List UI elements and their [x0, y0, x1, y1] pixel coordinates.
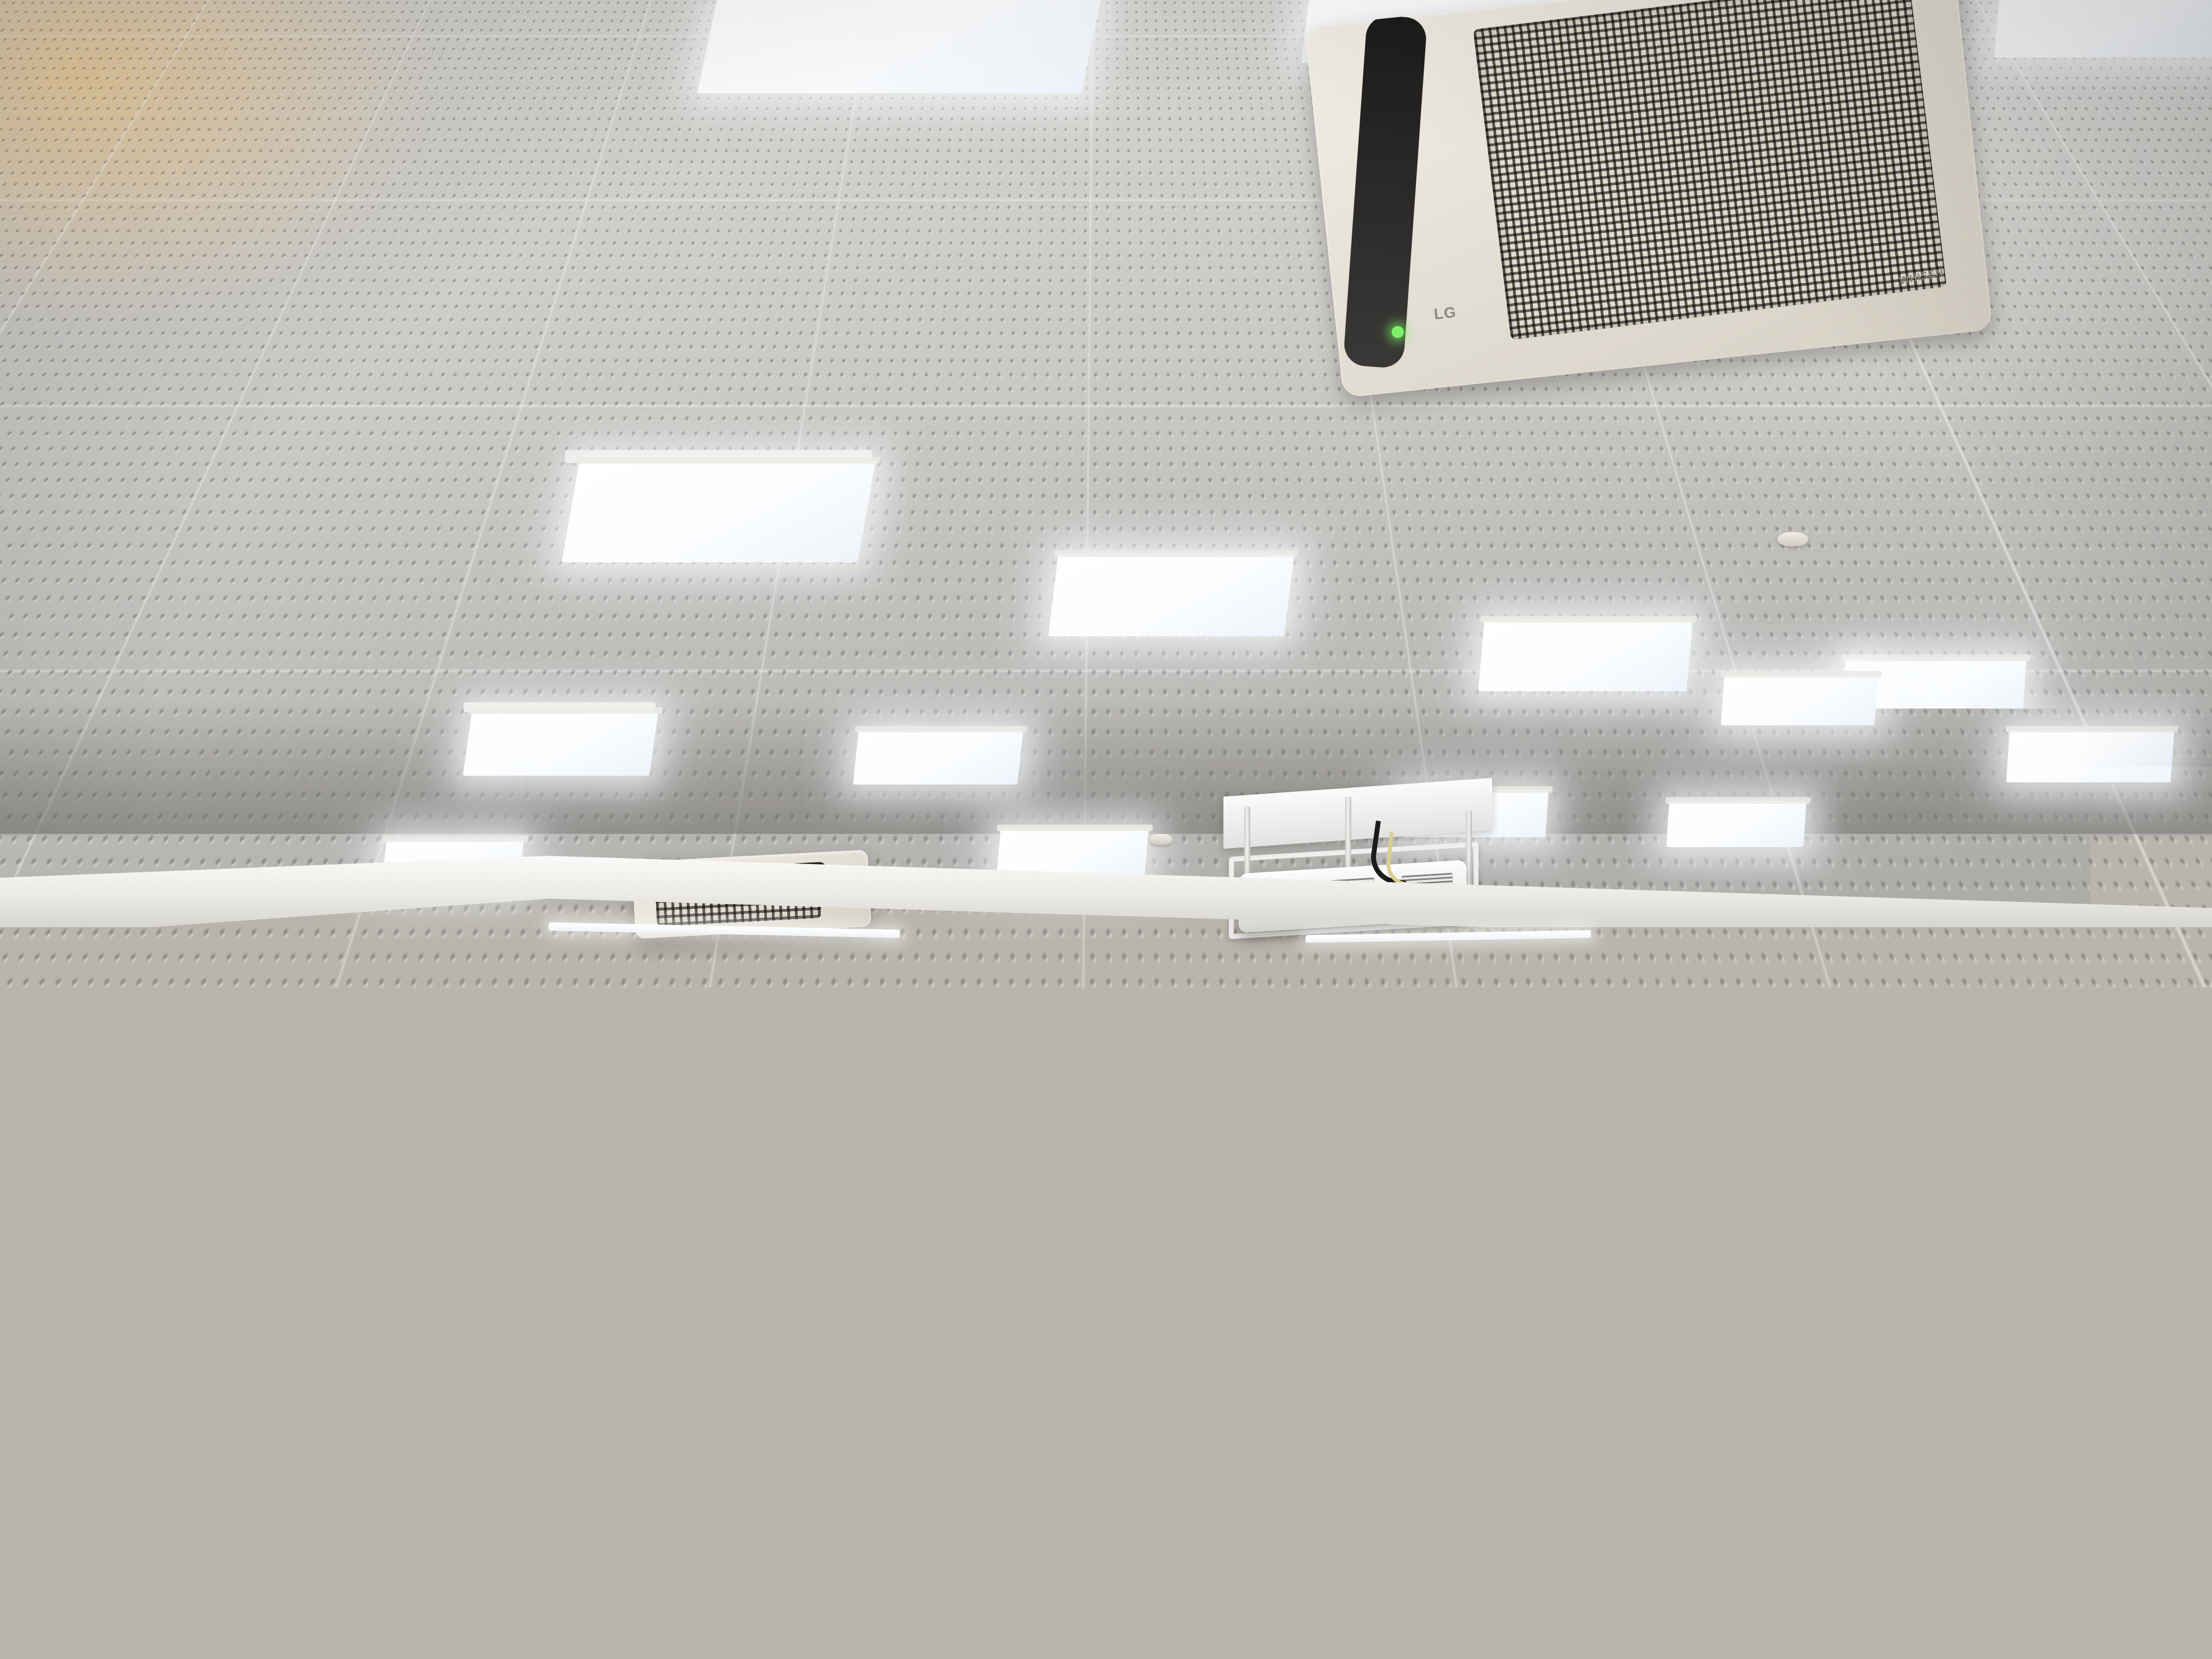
ceiling-shadow-band — [0, 702, 2212, 834]
slide-section-heading-text: 소모임 진행 목적 — [598, 1193, 722, 1215]
equipment-trolley — [5, 1415, 132, 1422]
smoke-detector-icon — [1778, 532, 1808, 546]
county-emblem-icon — [1154, 1218, 1177, 1247]
whiteboard-roster-column: 2024년 ~ 2025년 1월 회장 - 김길동 부회장 - 정만호 최영희 … — [1346, 1142, 1412, 1237]
whiteboard-roster-item: 사무국장 - 김길오 — [1347, 1201, 1411, 1214]
whiteboard-roster-item: 총 무 - 박귀덕 — [1347, 1213, 1411, 1226]
trigram-geon-icon — [163, 1192, 196, 1210]
slide-organization-badge: 곡성군 정보화농업인연구회 — [814, 1053, 982, 1088]
air-conditioner-cassette: LG WHISEN — [1305, 0, 1993, 398]
trigram-gon-icon — [159, 1295, 173, 1313]
ceiling-light-panel — [1666, 801, 1807, 847]
emblem-figure-icon — [1158, 1231, 1174, 1247]
attendee-head — [1834, 1322, 1886, 1377]
presenter-head — [1480, 1162, 1537, 1229]
whiteboard-roster-item: 고 문 - 한상길 — [1347, 1224, 1412, 1237]
attendee-torso — [1057, 1322, 1159, 1441]
chair[interactable] — [631, 1611, 806, 1659]
ac-grille — [1473, 0, 1947, 340]
trigram-gon-icon — [179, 1295, 193, 1313]
whiteboard-roster-item: 총무 1명 - 한정호 — [1347, 1177, 1411, 1190]
equipment-trolley-leg — [11, 1421, 17, 1520]
attendee-torso — [1226, 1302, 1312, 1407]
ceiling-light-panel — [697, 0, 1102, 93]
ceiling-light-panel — [1721, 675, 1878, 725]
desk — [1937, 1477, 2212, 1518]
flagpole-finial-icon — [169, 1116, 185, 1133]
whiteboard-agenda-item: 8) 2026년 총회 운영비 책정 승인 — [1254, 1218, 1345, 1231]
attendee-torso — [1669, 1367, 1782, 1499]
attendee — [1059, 1278, 1158, 1437]
ceiling-light-panel — [2006, 730, 2175, 782]
attendee — [1228, 1262, 1310, 1399]
attendee — [1579, 1267, 1660, 1404]
slide-section-heading: 소모임 진행 목적 — [578, 1188, 722, 1216]
attendee-head — [1438, 1317, 1506, 1387]
whiteboard-agenda-item: 4) 2024년 결산보고 — [1254, 1171, 1345, 1184]
ceiling: LG WHISEN — [0, 0, 2212, 988]
slide-bullet-dash-icon: - — [578, 1239, 584, 1256]
wall-mounted-display[interactable] — [2134, 930, 2212, 1116]
desk-leg — [494, 1606, 503, 1659]
whiteboard-agenda-item: 6) 기타 의견 및 토의사항 — [1254, 1195, 1345, 1207]
daylight-patch — [1919, 1039, 1946, 1062]
ceiling-light-panel — [1994, 0, 2212, 58]
desk-leg — [1986, 1514, 1995, 1635]
attendee — [1920, 1328, 2030, 1503]
whiteboard-agenda-item: 1) 국민의례 — [1253, 1133, 1344, 1149]
desk-leg — [384, 1549, 393, 1659]
ceiling-light-panel — [463, 711, 659, 776]
ceiling-light-panel — [1048, 554, 1294, 636]
projector-lift-arm — [1466, 811, 1472, 893]
attendee-torso — [1805, 1370, 1915, 1500]
attendee-torso — [1577, 1307, 1662, 1414]
chair[interactable] — [1289, 1578, 1465, 1659]
taegeuk-symbol-icon — [155, 1229, 202, 1276]
whiteboard-agenda-item: 2) 회장 인사 말씀 — [1253, 1148, 1344, 1160]
slide-title: 3) 농부작가 만들기 프로젝트 — [548, 1093, 922, 1146]
whiteboard-roster-item: 회장 - 김길동 — [1346, 1154, 1410, 1166]
desk-leg — [982, 1571, 991, 1659]
whiteboard-roster-item: 부회장 - 정만호 최영희 — [1347, 1166, 1411, 1178]
ceiling-light-panel — [853, 730, 1024, 785]
county-flag-label: 곡성군 — [1136, 1249, 1153, 1279]
whiteboard-agenda-column: 1) 국민의례 2) 회장 인사 말씀 3) 2024년 사업보고(안) 4) … — [1253, 1133, 1345, 1231]
attendee-head — [1949, 1328, 2001, 1383]
attendee — [1805, 1322, 1915, 1498]
blind-divider — [1953, 961, 1958, 1302]
attendee-head — [1084, 1278, 1132, 1329]
slide-heading-circle-icon — [578, 1197, 591, 1210]
attendee-torso — [1404, 1378, 1541, 1521]
attendee-head — [1699, 1317, 1752, 1374]
daylight-patch — [1984, 1134, 2203, 1289]
trolley-wheel-icon — [4, 1515, 25, 1536]
chair[interactable] — [1229, 1432, 1344, 1516]
attendee — [1668, 1317, 1783, 1498]
ceiling-light-panel — [1478, 620, 1692, 691]
desk-leg — [121, 1535, 129, 1659]
whiteboard-agenda-item: 7) 임원 선출 — [1254, 1207, 1345, 1220]
smoke-detector-icon — [1149, 834, 1172, 845]
meeting-room-photo: LG WHISEN — [0, 0, 2212, 1659]
whiteboard-roster-item: 홍보부장 - 김수호 — [1347, 1189, 1411, 1202]
chair[interactable] — [1679, 1562, 1843, 1659]
ac-brand-logo: LG — [1433, 303, 1457, 323]
ac-air-vent — [1343, 14, 1427, 369]
whiteboard-roster-item: 2024년 ~ 2025년 1월 — [1346, 1142, 1410, 1155]
slide-bullet-dash-icon: - — [578, 1282, 584, 1299]
attendee-hair-clip-icon — [488, 1319, 507, 1326]
whiteboard-agenda-item: 5) 2025년 사업 설명 — [1254, 1183, 1345, 1196]
blind-shadow-band — [1705, 962, 1953, 1085]
whiteboard-agenda-item: 3) 2024년 사업보고(안) — [1254, 1160, 1345, 1172]
ceiling-light-panel — [562, 461, 876, 562]
attendee — [1401, 1317, 1544, 1514]
projection-screen[interactable]: 곡성군 정보화농업인연구회 3) 농부작가 만들기 프로젝트 소모임 진행 목적… — [517, 1029, 994, 1381]
desk-leg — [1481, 1547, 1491, 1659]
